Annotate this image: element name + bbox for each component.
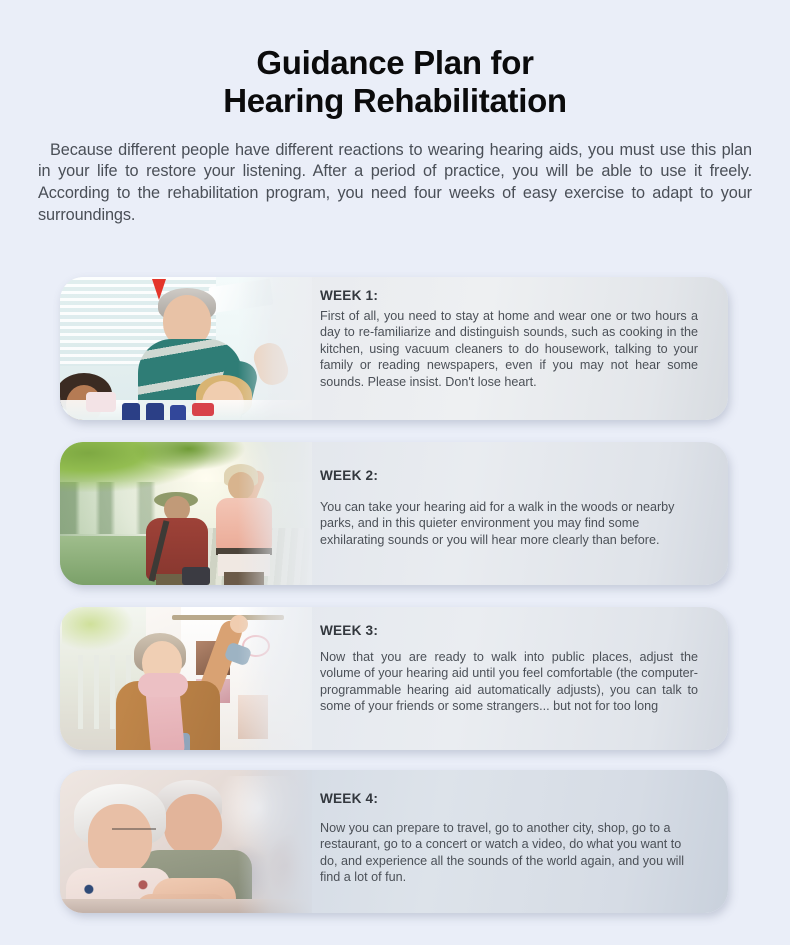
photo-woman-reaching-at-shop-display xyxy=(60,607,312,750)
week-card-3-text: WEEK 3: Now that you are ready to walk i… xyxy=(318,607,706,750)
week-card-3[interactable]: WEEK 3: Now that you are ready to walk i… xyxy=(60,607,728,750)
photo4-woman-glasses xyxy=(112,828,156,838)
photo1-edge-fade xyxy=(238,277,312,420)
week-2-label: WEEK 2: xyxy=(320,468,698,483)
photo4-man-head xyxy=(164,794,222,856)
week-card-1[interactable]: WEEK 1: First of all, you need to stay a… xyxy=(60,277,728,420)
photo3-foliage xyxy=(62,607,133,650)
week-2-body: You can take your hearing aid for a walk… xyxy=(320,499,698,548)
photo3-edge-fade xyxy=(238,607,312,750)
week-1-body: First of all, you need to stay at home a… xyxy=(320,308,698,390)
intro-paragraph: Because different people have different … xyxy=(38,140,752,227)
photo-elderly-couple-outdoors xyxy=(60,770,312,913)
photo2-shopping-bag xyxy=(182,567,210,585)
page-title: Guidance Plan for Hearing Rehabilitation xyxy=(0,0,790,121)
page-title-line-2: Hearing Rehabilitation xyxy=(0,82,790,120)
photo3-pink-scarf-collar xyxy=(138,673,188,697)
week-3-label: WEEK 3: xyxy=(320,623,698,638)
week-4-label: WEEK 4: xyxy=(320,791,698,806)
week-card-4-text: WEEK 4: Now you can prepare to travel, g… xyxy=(318,770,706,913)
week-1-label: WEEK 1: xyxy=(320,288,698,303)
week-card-4[interactable]: WEEK 4: Now you can prepare to travel, g… xyxy=(60,770,728,913)
photo1-cake xyxy=(86,392,116,412)
photo-couple-walking-in-sunlit-park xyxy=(60,442,312,585)
photo1-blue-cup-1 xyxy=(122,403,140,420)
week-card-2[interactable]: WEEK 2: You can take your hearing aid fo… xyxy=(60,442,728,585)
photo1-blue-cup-3 xyxy=(170,405,186,420)
photo2-edge-fade xyxy=(238,442,312,585)
photo4-edge-fade xyxy=(238,770,312,913)
page-title-line-1: Guidance Plan for xyxy=(0,44,790,82)
week-4-body: Now you can prepare to travel, go to ano… xyxy=(320,820,698,886)
photo-grandmother-with-children-at-table xyxy=(60,277,312,420)
photo1-red-item xyxy=(192,403,214,416)
week-3-body: Now that you are ready to walk into publ… xyxy=(320,649,698,715)
photo1-blue-cup-2 xyxy=(146,403,164,420)
week-card-1-text: WEEK 1: First of all, you need to stay a… xyxy=(318,277,706,420)
week-card-2-text: WEEK 2: You can take your hearing aid fo… xyxy=(318,442,706,585)
photo4-woman-head xyxy=(88,804,152,874)
